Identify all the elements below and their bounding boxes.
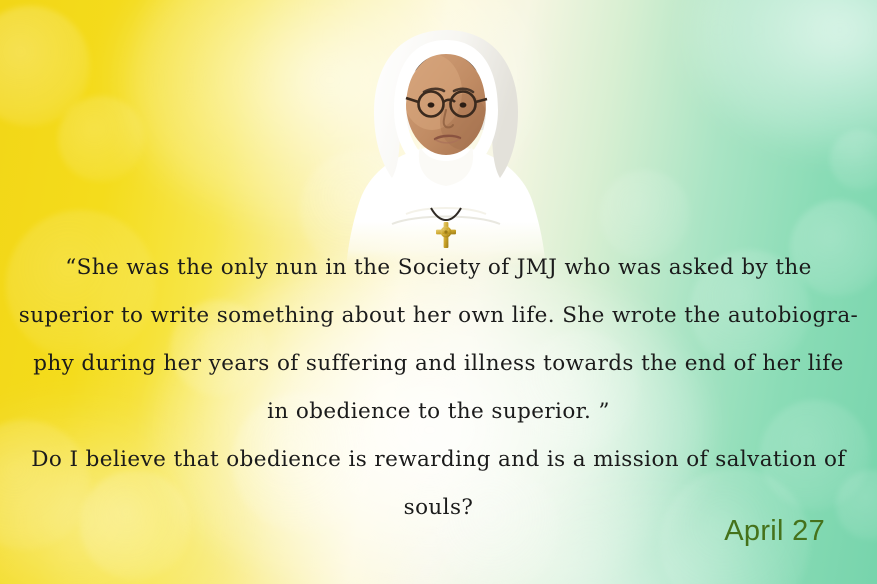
- bokeh-circle: [0, 6, 90, 126]
- reflection-line: Do I believe that obedience is rewarding…: [0, 436, 877, 484]
- quote-text: “She was the only nun in the Society of …: [0, 244, 877, 436]
- bokeh-circle: [58, 96, 144, 182]
- bokeh-circle: [830, 130, 877, 190]
- quote-line: “She was the only nun in the Society of …: [0, 244, 877, 292]
- nun-portrait: [336, 18, 556, 268]
- quote-line: phy during her years of suffering and il…: [0, 340, 877, 388]
- date-label: April 27: [724, 515, 825, 548]
- quote-line: superior to write something about her ow…: [0, 292, 877, 340]
- quote-line: in obedience to the superior. ”: [0, 388, 877, 436]
- background-glow-top-right: [690, 0, 877, 150]
- reflection-card: “She was the only nun in the Society of …: [0, 0, 877, 584]
